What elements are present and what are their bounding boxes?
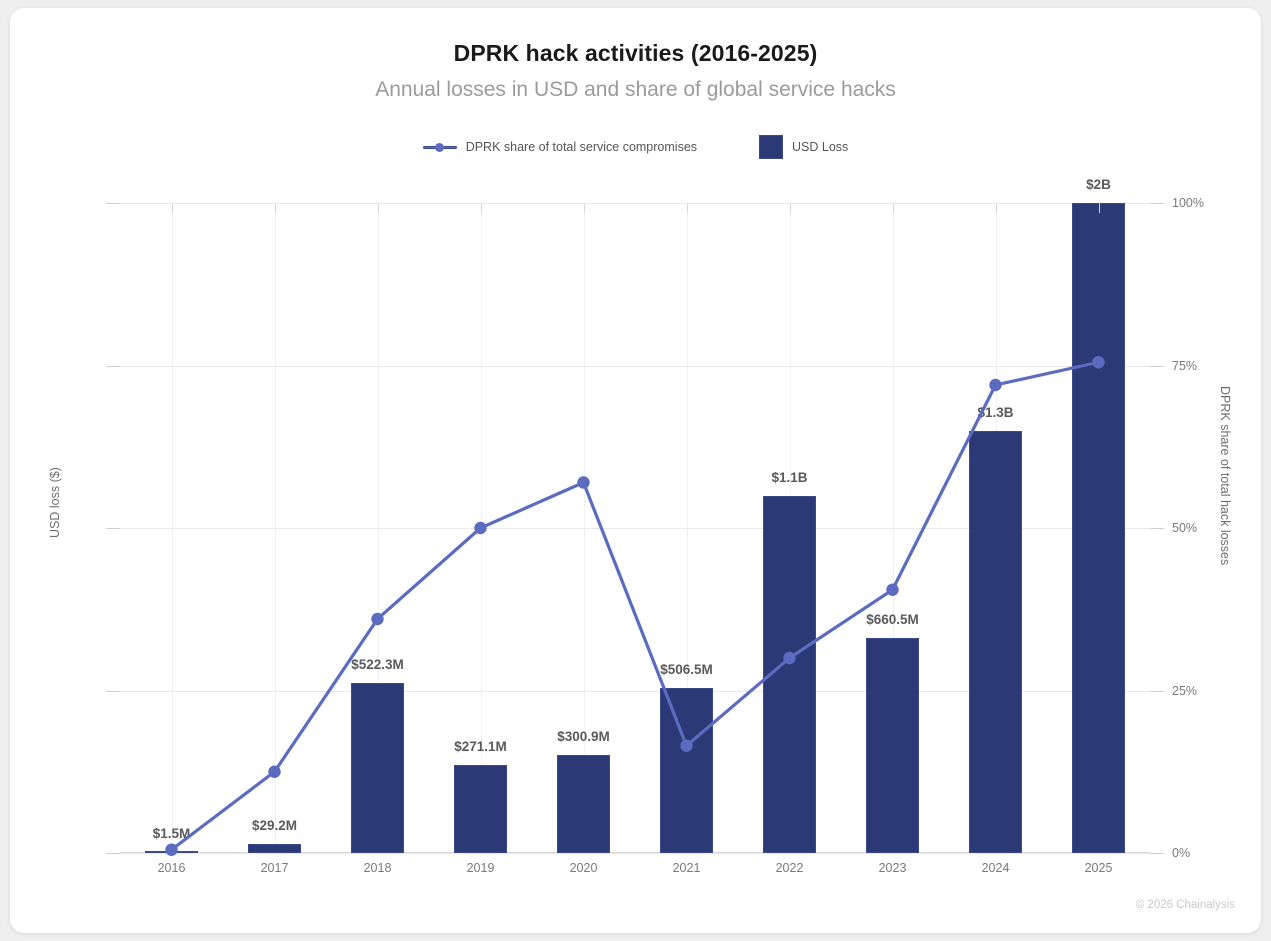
y-tick-right	[1150, 528, 1164, 529]
bar-value-label: $2B	[1086, 177, 1111, 192]
y-tick-label-right: 50%	[1172, 521, 1197, 535]
line-series-layer: 2016: 0.5%2017: 12.5%2018: 36%2019: 50%2…	[120, 203, 1150, 853]
x-tick	[378, 203, 379, 213]
line-data-point[interactable]: 2016: 0.5%	[165, 844, 177, 856]
y-axis-label-left: USD loss ($)	[48, 467, 62, 538]
x-tick-label: 2018	[364, 861, 392, 875]
x-tick	[481, 203, 482, 213]
line-data-point[interactable]: 2023: 40.5%	[886, 584, 898, 596]
line-data-point[interactable]: 2020: 57%	[577, 476, 589, 488]
x-tick	[996, 203, 997, 213]
x-tick-label: 2025	[1085, 861, 1113, 875]
square-swatch-icon	[759, 135, 783, 159]
x-tick-label: 2019	[467, 861, 495, 875]
x-tick	[1099, 203, 1100, 213]
chart-subtitle: Annual losses in USD and share of global…	[10, 78, 1261, 102]
line-data-point[interactable]: 2024: 72%	[989, 379, 1001, 391]
legend-item-bar[interactable]: USD Loss	[759, 135, 848, 159]
line-data-point[interactable]: 2018: 36%	[371, 613, 383, 625]
x-tick	[275, 203, 276, 213]
y-tick-label-right: 100%	[1172, 196, 1204, 210]
y-tick-right	[1150, 853, 1164, 854]
gridline	[120, 853, 1150, 854]
line-data-point[interactable]: 2017: 12.5%	[268, 766, 280, 778]
y-tick-left	[106, 528, 120, 529]
line-data-point[interactable]: 2025: 75.5%	[1092, 356, 1104, 368]
y-tick-right	[1150, 203, 1164, 204]
legend-label-usd: USD Loss	[792, 140, 848, 154]
x-tick	[893, 203, 894, 213]
y-tick-label-right: 75%	[1172, 359, 1197, 373]
copyright-footer: © 2026 Chainalysis	[1136, 899, 1235, 911]
chart-card: DPRK hack activities (2016-2025) Annual …	[10, 8, 1261, 933]
x-tick-label: 2021	[673, 861, 701, 875]
x-tick	[584, 203, 585, 213]
y-tick-left	[106, 691, 120, 692]
y-tick-left	[106, 366, 120, 367]
x-tick-label: 2020	[570, 861, 598, 875]
x-tick-label: 2023	[879, 861, 907, 875]
legend-item-line[interactable]: DPRK share of total service compromises	[423, 140, 697, 154]
y-axis-label-right: DPRK share of total hack losses	[1218, 386, 1232, 565]
line-data-point[interactable]: 2021: 16.5%	[680, 740, 692, 752]
line-data-point[interactable]: 2022: 30%	[783, 652, 795, 664]
x-tick-label: 2022	[776, 861, 804, 875]
y-tick-left	[106, 853, 120, 854]
x-tick	[172, 203, 173, 213]
x-tick	[790, 203, 791, 213]
chart-legend: DPRK share of total service compromises …	[10, 135, 1261, 159]
legend-label-share: DPRK share of total service compromises	[466, 140, 697, 154]
x-tick-label: 2017	[261, 861, 289, 875]
share-line	[172, 362, 1099, 850]
x-tick	[687, 203, 688, 213]
y-tick-right	[1150, 366, 1164, 367]
x-tick-label: 2024	[982, 861, 1010, 875]
plot-area: $0.00B$0.50B$1.00B$1.50B$2.00B 0%25%50%7…	[120, 203, 1150, 853]
page-title: DPRK hack activities (2016-2025)	[10, 40, 1261, 67]
line-marker-icon	[423, 141, 457, 153]
y-tick-right	[1150, 691, 1164, 692]
y-tick-label-right: 25%	[1172, 684, 1197, 698]
x-tick-label: 2016	[158, 861, 186, 875]
y-tick-left	[106, 203, 120, 204]
y-tick-label-right: 0%	[1172, 846, 1190, 860]
line-data-point[interactable]: 2019: 50%	[474, 522, 486, 534]
